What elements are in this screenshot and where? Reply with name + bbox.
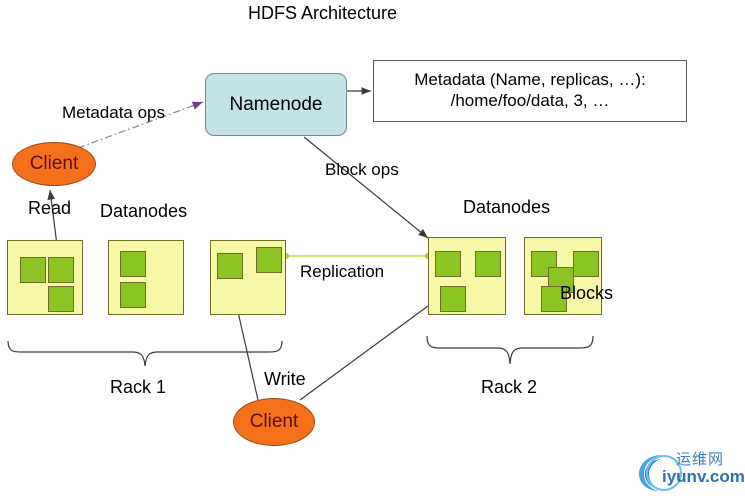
label-write: Write xyxy=(264,369,306,390)
client-node-write[interactable]: Client xyxy=(233,398,315,446)
block xyxy=(435,251,461,277)
block xyxy=(120,282,146,308)
metadata-info-box: Metadata (Name, replicas, …): /home/foo/… xyxy=(373,60,687,122)
block xyxy=(48,286,74,312)
hdfs-architecture-diagram: HDFS Architecture Metadata (Name, replic… xyxy=(0,0,745,499)
rack-1-brace xyxy=(8,341,282,366)
block xyxy=(217,253,243,279)
client-bottom-label: Client xyxy=(250,411,299,433)
page-title: HDFS Architecture xyxy=(248,3,397,24)
namenode-box[interactable]: Namenode xyxy=(205,73,347,136)
label-rack-2: Rack 2 xyxy=(481,377,537,398)
block xyxy=(440,286,466,312)
label-read: Read xyxy=(28,198,71,219)
label-replication: Replication xyxy=(300,262,384,282)
label-blocks: Blocks xyxy=(560,283,613,304)
namenode-label: Namenode xyxy=(230,94,323,116)
block xyxy=(20,257,46,283)
label-datanodes-left: Datanodes xyxy=(100,201,187,222)
label-datanodes-right: Datanodes xyxy=(463,197,550,218)
arrow-block-ops xyxy=(304,137,428,238)
block xyxy=(120,251,146,277)
metadata-line-2: /home/foo/data, 3, … xyxy=(451,91,610,112)
datanode-rack1-3[interactable] xyxy=(210,240,286,315)
arrow-write-rack2 xyxy=(300,295,443,400)
block xyxy=(48,257,74,283)
block xyxy=(573,251,599,277)
rack-2-brace xyxy=(427,336,593,364)
label-rack-1: Rack 1 xyxy=(110,377,166,398)
metadata-line-1: Metadata (Name, replicas, …): xyxy=(414,70,645,91)
block xyxy=(475,251,501,277)
label-block-ops: Block ops xyxy=(325,160,399,180)
watermark-cn-text: 运维网 xyxy=(676,448,724,469)
client-top-label: Client xyxy=(30,153,79,175)
watermark-en-text: iyunv.com xyxy=(662,467,745,487)
datanode-rack2-1[interactable] xyxy=(428,237,506,315)
label-metadata-ops: Metadata ops xyxy=(62,103,165,123)
datanode-rack1-2[interactable] xyxy=(108,240,184,315)
block xyxy=(256,247,282,273)
datanode-rack1-1[interactable] xyxy=(7,240,83,315)
client-node-read[interactable]: Client xyxy=(12,142,96,186)
watermark: 运维网 iyunv.com xyxy=(636,447,740,494)
